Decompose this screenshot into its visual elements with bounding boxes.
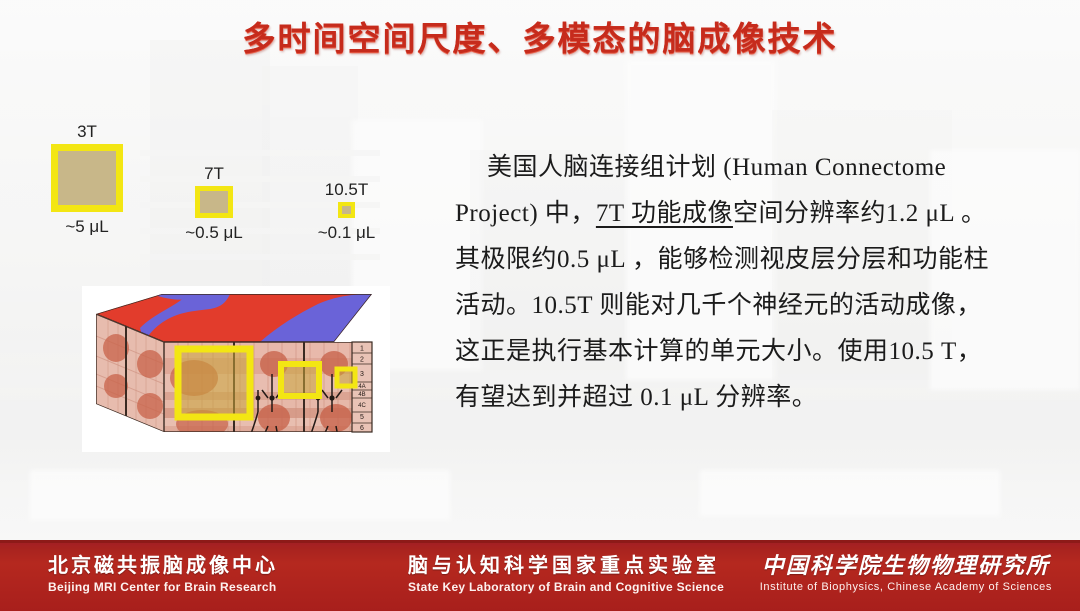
body-line-5: 这正是执行基本计算的单元大小。使用10.5 T， [455,329,1035,375]
voxel-item-7t: 7T ~0.5 μL [195,186,233,218]
layer-label-3: 3 [360,371,364,378]
footer-org-mri-center-en: Beijing MRI Center for Brain Research [48,579,278,596]
voxel-field-label-10-5t: 10.5T [325,180,368,200]
body-line-2: Project) 中，7T 功能成像空间分辨率约1.2 μL 。 [455,191,1035,237]
voxel-size-comparison: 3T ~5 μL 7T ~0.5 μL 10.5T ~0.1 μL [40,118,410,258]
body-line-2-post: 空间分辨率约1.2 μL 。 [733,200,987,227]
voxel-volume-label-10-5t: ~0.1 μL [318,223,376,243]
body-line-3: 其极限约0.5 μL ，能够检测视皮层分层和功能柱 [455,237,1035,283]
layer-label-2: 2 [360,357,364,364]
body-line-4: 活动。10.5T 则能对几千个神经元的活动成像， [455,283,1035,329]
voxel-item-10-5t: 10.5T ~0.1 μL [338,202,355,218]
footer-org-mri-center: 北京磁共振脑成像中心 Beijing MRI Center for Brain … [48,553,278,596]
voxel-square-3t [51,144,123,212]
layer-label-4a: 4A [358,384,365,390]
voxel-field-label-7t: 7T [204,164,224,184]
voxel-square-10-5t [338,202,355,218]
footer-org-biophysics-en: Institute of Biophysics, Chinese Academy… [760,579,1052,596]
voxel-volume-label-7t: ~0.5 μL [185,223,243,243]
body-line-6: 有望达到并超过 0.1 μL 分辨率。 [455,375,1035,421]
layer-label-5: 5 [360,414,364,421]
layer-label-1: 1 [360,346,364,353]
footer-org-biophysics: 中国科学院生物物理研究所 Institute of Biophysics, Ch… [760,553,1052,596]
voxel-item-3t: 3T ~5 μL [51,144,123,212]
footer-org-biophysics-cn: 中国科学院生物物理研究所 [760,553,1052,579]
slide-title: 多时间空间尺度、多模态的脑成像技术 [0,12,1080,60]
presentation-slide: 多时间空间尺度、多模态的脑成像技术 3T ~5 μL 7T ~0.5 μL 10… [0,0,1080,611]
layer-label-6: 6 [360,425,364,432]
footer-org-mri-center-cn: 北京磁共振脑成像中心 [48,553,278,579]
cortical-column-figure: 1 2 3 4A 4B 4C 5 6 [82,286,390,452]
body-line-2-pre: Project) 中， [455,200,596,227]
body-text: 美国人脑连接组计划 (Human Connectome Project) 中，7… [455,145,1035,421]
footer-org-state-key-lab-en: State Key Laboratory of Brain and Cognit… [408,579,724,596]
body-line-2-underlined: 7T 功能成像 [596,200,733,227]
layer-label-4c: 4C [358,403,366,409]
voxel-volume-label-3t: ~5 μL [65,217,108,237]
footer-org-state-key-lab-cn: 脑与认知科学国家重点实验室 [408,553,724,579]
voxel-field-label-3t: 3T [77,122,97,142]
cortical-column-diagram: 1 2 3 4A 4B 4C 5 6 [82,286,390,452]
voxel-square-7t [195,186,233,218]
body-line-1: 美国人脑连接组计划 (Human Connectome [455,145,1035,191]
footer-org-state-key-lab: 脑与认知科学国家重点实验室 State Key Laboratory of Br… [408,553,724,596]
layer-label-4b: 4B [358,392,365,398]
slide-footer: 北京磁共振脑成像中心 Beijing MRI Center for Brain … [0,540,1080,611]
